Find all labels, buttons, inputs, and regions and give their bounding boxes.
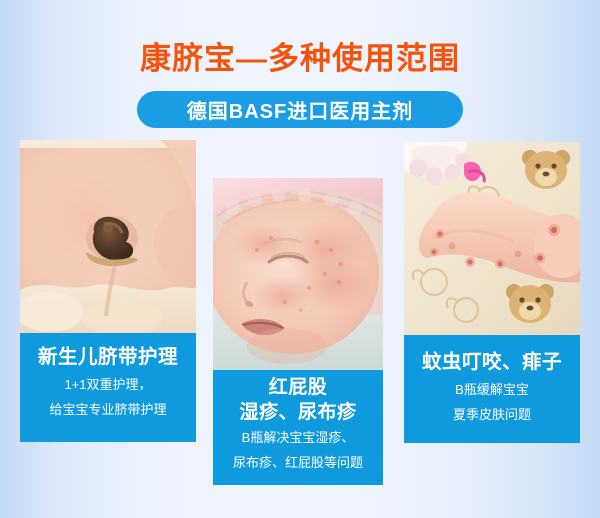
promo-poster: 康脐宝—多种使用范围 德国BASF进口医用主剂: [0, 0, 600, 518]
caption-subtitle: B瓶缓解宝宝 夏季皮肤问题: [404, 377, 580, 427]
caption-title-line-1: 红屁股: [213, 375, 383, 400]
photo-umbilical-cord: [20, 140, 196, 333]
caption-subtitle-line-2: 尿布疹、红屁股等问题: [213, 450, 383, 475]
caption-mosquito-bites: 蚊虫叮咬、痱子 B瓶缓解宝宝 夏季皮肤问题: [404, 335, 580, 443]
caption-subtitle: B瓶解决宝宝湿疹、 尿布疹、红屁股等问题: [213, 425, 383, 475]
caption-title: 蚊虫叮咬、痱子: [404, 347, 580, 377]
caption-subtitle-line-1: B瓶缓解宝宝: [404, 377, 580, 402]
caption-subtitle-line-2: 夏季皮肤问题: [404, 402, 580, 427]
panel-umbilical-care: 新生儿脐带护理 1+1双重护理， 给宝宝专业脐带护理: [20, 140, 196, 442]
page-title: 康脐宝—多种使用范围: [0, 40, 600, 78]
caption-diaper-rash: 红屁股 湿疹、尿布疹 B瓶解决宝宝湿疹、 尿布疹、红屁股等问题: [213, 370, 383, 485]
caption-subtitle-line-1: 1+1双重护理，: [20, 372, 196, 397]
caption-title: 新生儿脐带护理: [20, 342, 196, 372]
panel-mosquito-bites: 蚊虫叮咬、痱子 B瓶缓解宝宝 夏季皮肤问题: [404, 142, 580, 443]
caption-title: 红屁股 湿疹、尿布疹: [213, 375, 383, 425]
caption-subtitle-line-1: B瓶解决宝宝湿疹、: [213, 425, 383, 450]
badge-basf-ingredient: 德国BASF进口医用主剂: [137, 91, 463, 128]
caption-title-line-2: 湿疹、尿布疹: [213, 400, 383, 425]
caption-subtitle: 1+1双重护理， 给宝宝专业脐带护理: [20, 372, 196, 422]
photo-baby-leg-bites: [404, 142, 580, 335]
photo-baby-face-rash: [213, 178, 383, 370]
caption-umbilical-care: 新生儿脐带护理 1+1双重护理， 给宝宝专业脐带护理: [20, 333, 196, 442]
caption-subtitle-line-2: 给宝宝专业脐带护理: [20, 397, 196, 422]
panel-diaper-rash: 红屁股 湿疹、尿布疹 B瓶解决宝宝湿疹、 尿布疹、红屁股等问题: [213, 178, 383, 485]
